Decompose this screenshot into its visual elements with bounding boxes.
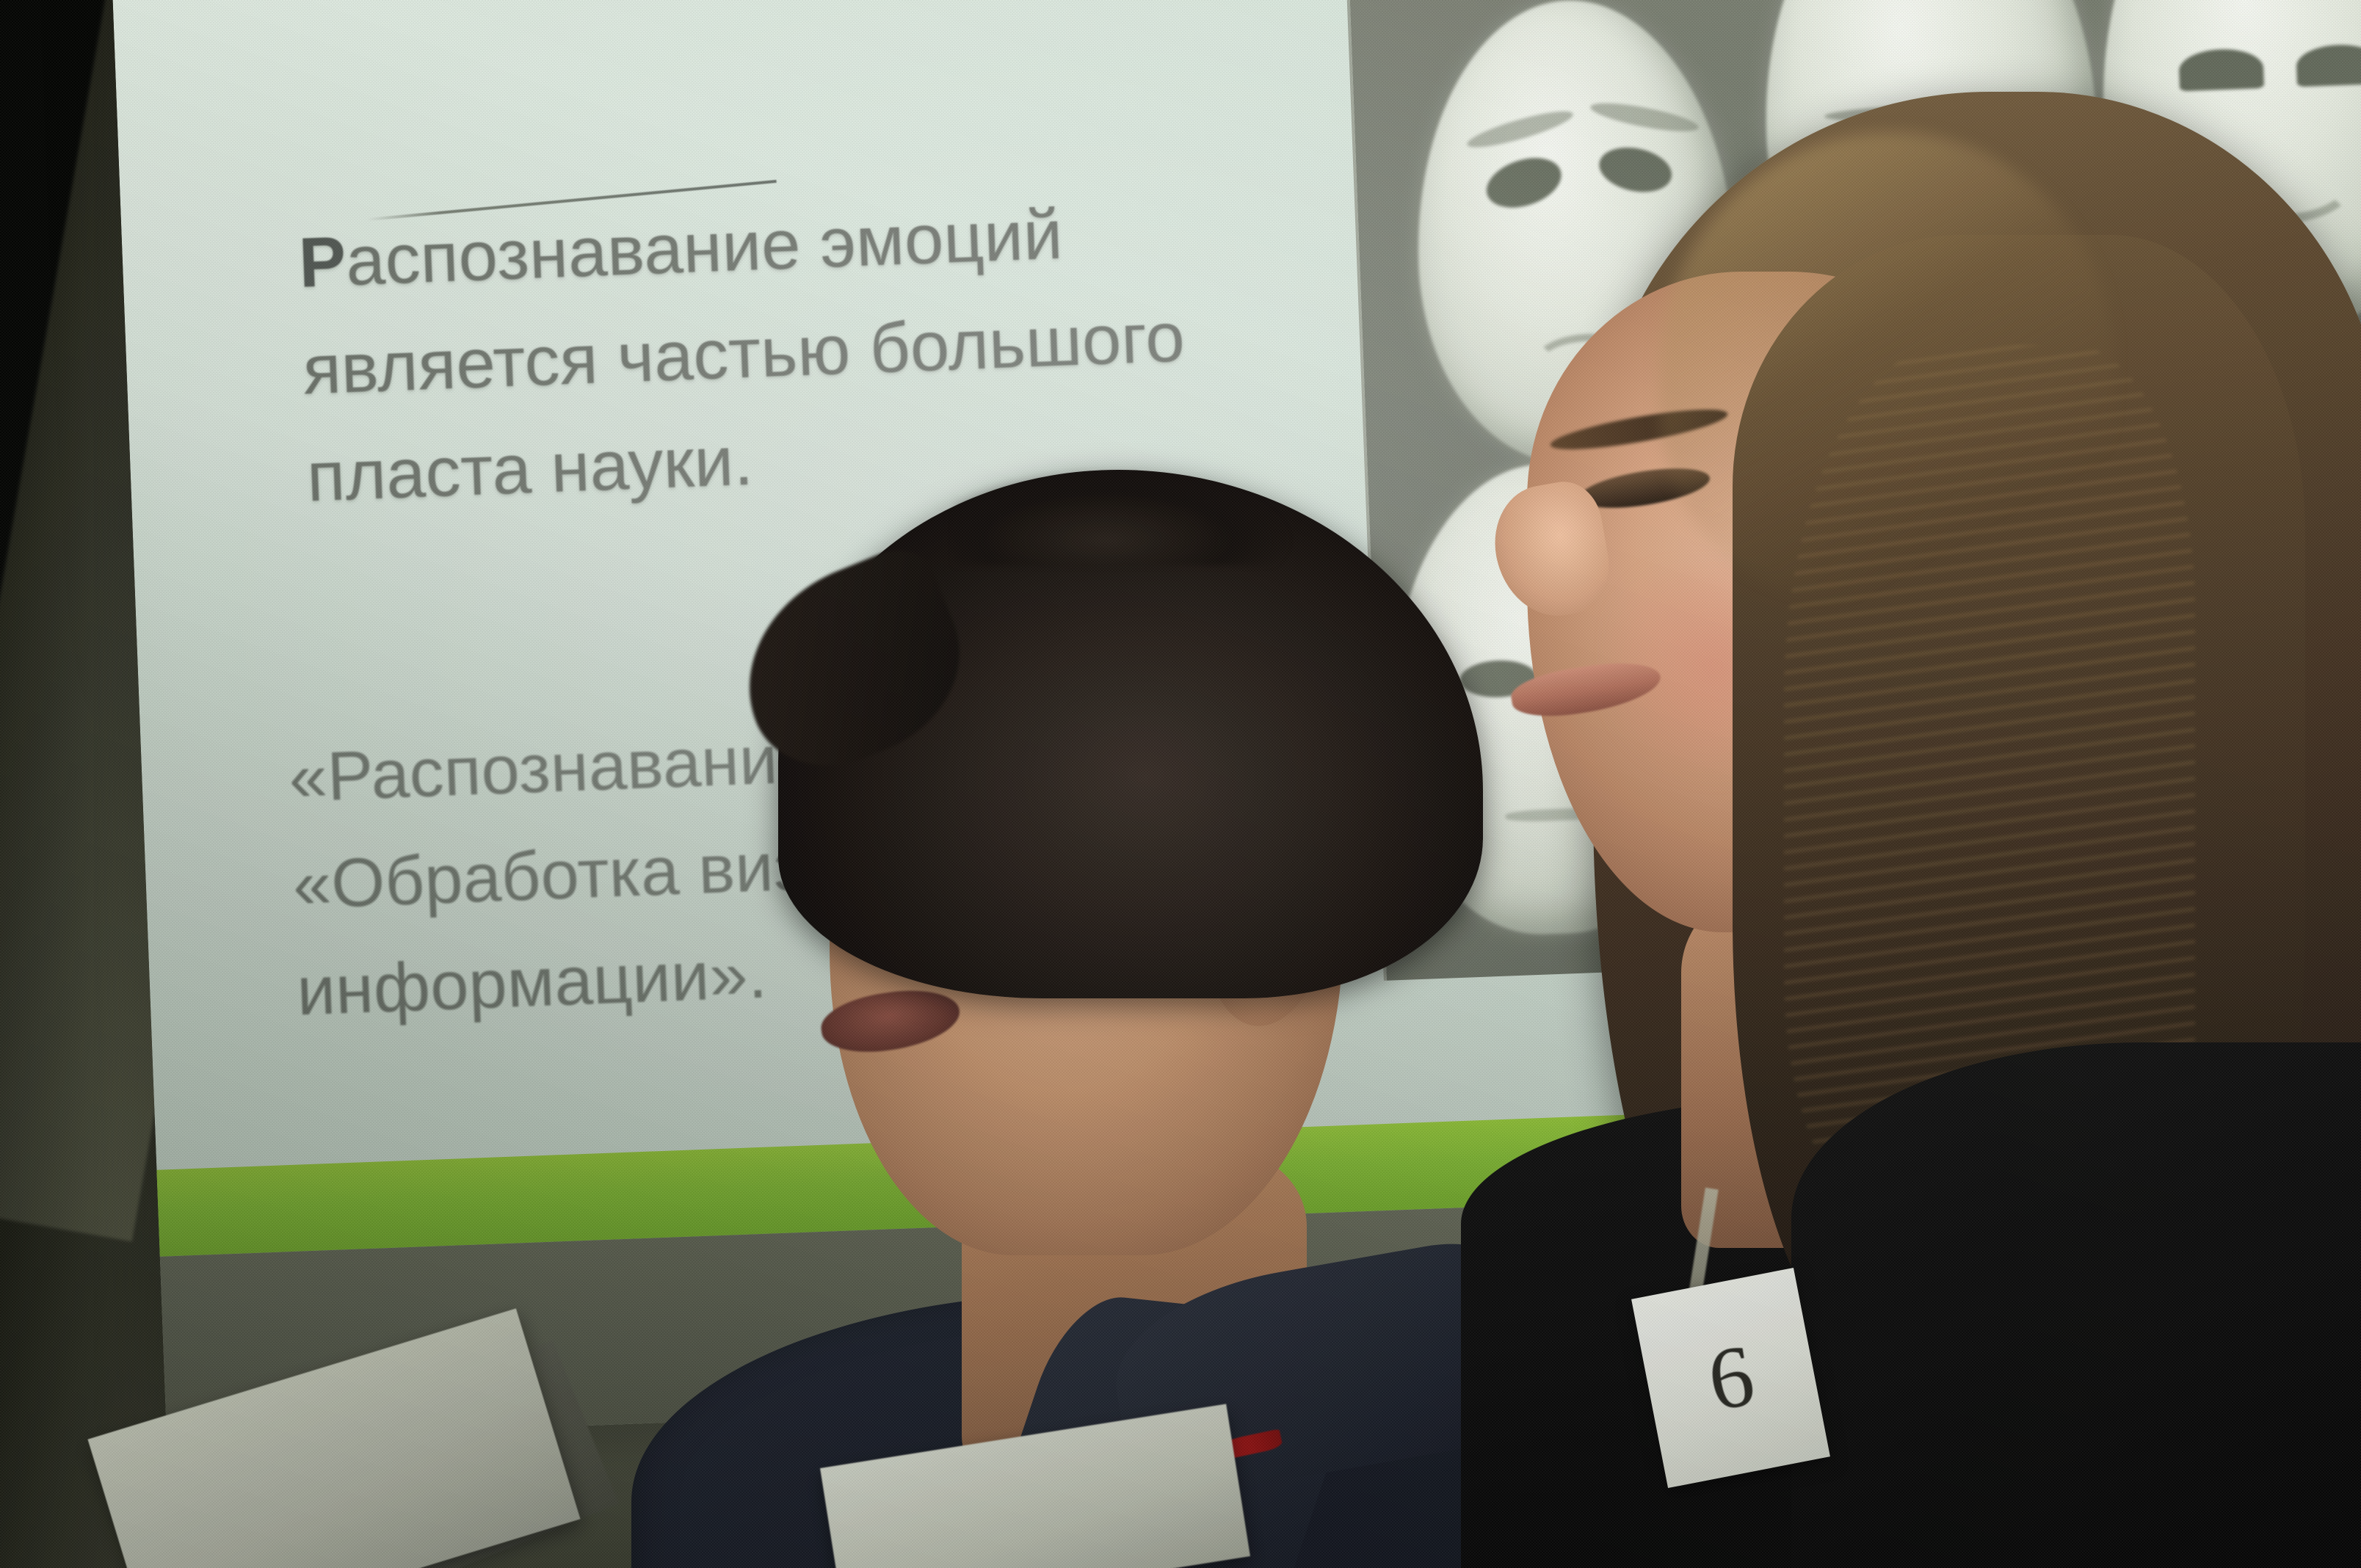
hair-highlight — [1659, 132, 2114, 602]
shoulder — [1791, 1042, 2361, 1568]
presenter-right: 6 — [1439, 51, 2361, 1568]
photo-scene: Введение. Э Распознавание эмоций являетс… — [0, 0, 2361, 1568]
hair-spikes — [954, 440, 1336, 565]
badge-number: 6 — [1701, 1324, 1760, 1431]
